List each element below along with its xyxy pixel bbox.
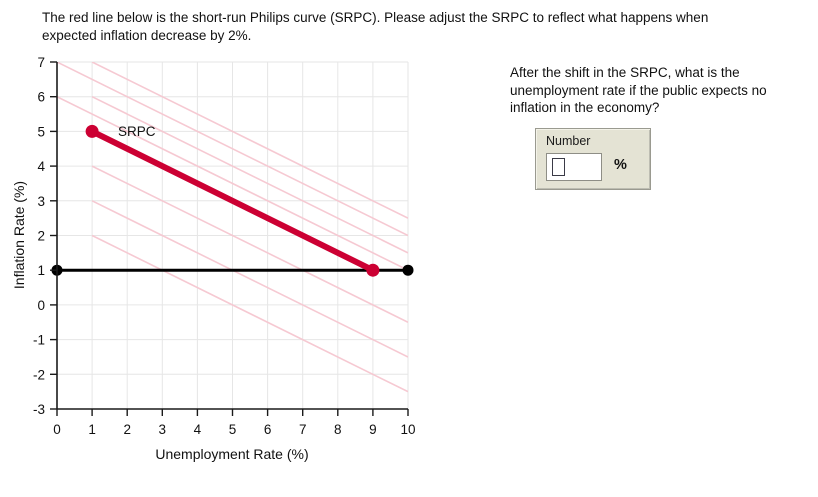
y-tick-label: 3 <box>37 194 45 209</box>
y-tick-label: 6 <box>37 90 45 105</box>
x-tick-label: 9 <box>369 422 377 437</box>
number-input[interactable] <box>546 153 602 181</box>
srpc-label: SRPC <box>118 124 156 139</box>
prompt-text: The red line below is the short-run Phil… <box>42 9 742 45</box>
x-tick-label: 6 <box>264 422 272 437</box>
x-tick-label: 10 <box>400 422 415 437</box>
y-axis-title: Inflation Rate (%) <box>11 181 27 289</box>
x-tick-label: 4 <box>194 422 202 437</box>
srpc-handle-left[interactable] <box>86 125 99 138</box>
x-tick-label: 5 <box>229 422 237 437</box>
philips-curve-chart[interactable]: SRPC <box>0 48 470 468</box>
answer-input-group[interactable]: Number % <box>535 128 651 190</box>
y-tick-label: -2 <box>33 367 45 382</box>
y-tick-label: 0 <box>37 298 45 313</box>
y-tick-label: 7 <box>37 55 45 70</box>
x-tick-marks <box>57 409 408 416</box>
y-tick-label: 4 <box>37 159 45 174</box>
question-text: After the shift in the SRPC, what is the… <box>510 64 810 117</box>
x-tick-label: 7 <box>299 422 307 437</box>
answer-field-label: Number <box>546 134 590 148</box>
y-tick-label: 2 <box>37 229 45 244</box>
percent-unit-label: % <box>614 157 627 173</box>
y-tick-marks <box>50 62 57 409</box>
x-tick-label: 8 <box>334 422 342 437</box>
y-tick-label: -3 <box>33 402 45 417</box>
chart-svg[interactable]: SRPC <box>0 48 470 468</box>
y-tick-labels: 7 6 5 4 3 2 1 0 -1 -2 -3 <box>33 55 46 417</box>
question-panel: After the shift in the SRPC, what is the… <box>510 64 815 190</box>
y-tick-label: -1 <box>33 333 45 348</box>
x-axis-title: Unemployment Rate (%) <box>155 446 308 462</box>
x-tick-label: 3 <box>159 422 167 437</box>
zero-line-handle-right[interactable] <box>403 265 414 276</box>
y-tick-label: 5 <box>37 124 45 139</box>
x-tick-label: 2 <box>123 422 131 437</box>
x-tick-label: 0 <box>53 422 61 437</box>
text-caret-icon <box>552 158 565 176</box>
y-tick-label: 1 <box>37 263 45 278</box>
x-tick-label: 1 <box>88 422 96 437</box>
x-tick-labels: 0 1 2 3 4 5 6 7 8 9 10 <box>53 422 415 437</box>
srpc-handle-right[interactable] <box>366 264 379 277</box>
